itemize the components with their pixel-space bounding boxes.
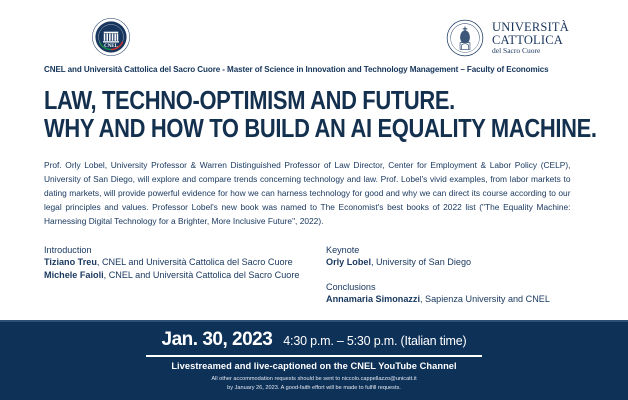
unicatt-line-3: del Sacro Cuore bbox=[492, 47, 569, 55]
title-line-1: LAW, TECHNO-OPTIMISM AND FUTURE. bbox=[44, 87, 508, 115]
role-conclusions: Conclusions bbox=[326, 282, 584, 292]
unicatt-line-2: CATTOLICA bbox=[492, 34, 569, 47]
speaker-row: Annamaria Simonazzi, Sapienza University… bbox=[326, 293, 584, 306]
logo-bar: CNEL UNIVERSITÀ CATTOLICA del Sacro Cuor… bbox=[0, 14, 628, 60]
speaker-row: Michele Faioli, CNEL and Università Catt… bbox=[44, 269, 326, 282]
speaker-affiliation: , University of San Diego bbox=[371, 257, 471, 267]
accessibility-note: All other accommodation requests should … bbox=[0, 375, 628, 393]
footer-band: Jan. 30, 2023 4:30 p.m. – 5:30 p.m. (Ita… bbox=[0, 320, 628, 400]
poster-content: CNEL and Università Cattolica del Sacro … bbox=[44, 64, 584, 306]
speaker-name: Michele Faioli bbox=[44, 270, 104, 280]
event-time: 4:30 p.m. – 5:30 p.m. (Italian time) bbox=[283, 334, 466, 348]
livestream-note: Livestreamed and live-captioned on the C… bbox=[0, 361, 628, 371]
role-introduction: Introduction bbox=[44, 245, 326, 255]
event-abstract: Prof. Orly Lobel, University Professor &… bbox=[44, 159, 571, 229]
band-top-rule bbox=[0, 320, 628, 322]
speaker-affiliation: , Sapienza University and CNEL bbox=[420, 294, 550, 304]
cnel-logo: CNEL bbox=[92, 18, 130, 56]
fineprint-line-1: All other accommodation requests should … bbox=[0, 375, 628, 384]
speaker-name: Tiziano Treu bbox=[44, 257, 97, 267]
program-columns: Introduction Tiziano Treu, CNEL and Univ… bbox=[44, 245, 584, 306]
speaker-row: Orly Lobel, University of San Diego bbox=[326, 256, 584, 269]
program-column-right: Keynote Orly Lobel, University of San Di… bbox=[326, 245, 584, 306]
fineprint-line-2: by January 26, 2023. A good-faith effort… bbox=[0, 384, 628, 393]
event-date: Jan. 30, 2023 bbox=[162, 329, 273, 351]
program-column-left: Introduction Tiziano Treu, CNEL and Univ… bbox=[44, 245, 326, 306]
date-underline bbox=[146, 355, 482, 357]
speaker-affiliation: , CNEL and Università Cattolica del Sacr… bbox=[104, 270, 300, 280]
universita-cattolica-logo: UNIVERSITÀ CATTOLICA del Sacro Cuore bbox=[446, 18, 596, 58]
unicatt-line-1: UNIVERSITÀ bbox=[492, 21, 569, 34]
event-datetime: Jan. 30, 2023 4:30 p.m. – 5:30 p.m. (Ita… bbox=[0, 329, 628, 351]
unicatt-wordmark: UNIVERSITÀ CATTOLICA del Sacro Cuore bbox=[492, 21, 569, 55]
page-title: LAW, TECHNO-OPTIMISM AND FUTURE. WHY AND… bbox=[44, 87, 508, 143]
speaker-name: Annamaria Simonazzi bbox=[326, 294, 420, 304]
event-poster: CNEL UNIVERSITÀ CATTOLICA del Sacro Cuor… bbox=[0, 0, 628, 400]
speaker-affiliation: , CNEL and Università Cattolica del Sacr… bbox=[97, 257, 293, 267]
speaker-name: Orly Lobel bbox=[326, 257, 371, 267]
speaker-row: Tiziano Treu, CNEL and Università Cattol… bbox=[44, 256, 326, 269]
svg-text:CNEL: CNEL bbox=[104, 44, 118, 49]
title-line-2: WHY AND HOW TO BUILD AN AI EQUALITY MACH… bbox=[44, 115, 508, 143]
role-keynote: Keynote bbox=[326, 245, 584, 255]
event-subtitle: CNEL and Università Cattolica del Sacro … bbox=[44, 64, 546, 74]
spacer bbox=[326, 269, 584, 282]
